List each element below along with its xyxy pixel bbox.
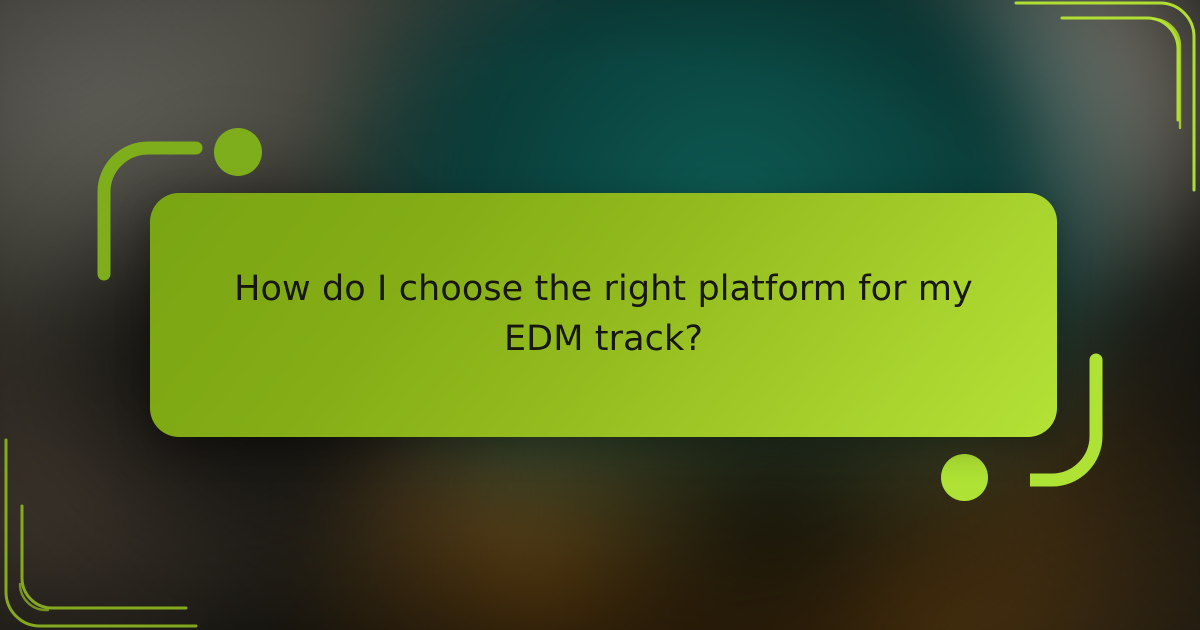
left-accent-dot [214,128,262,176]
quote-card: How do I choose the right platform for m… [150,193,1057,437]
quote-text: How do I choose the right platform for m… [150,265,1057,364]
bottom-right-accent-dot [941,454,988,501]
quote-card-graphic: How do I choose the right platform for m… [0,0,1200,630]
